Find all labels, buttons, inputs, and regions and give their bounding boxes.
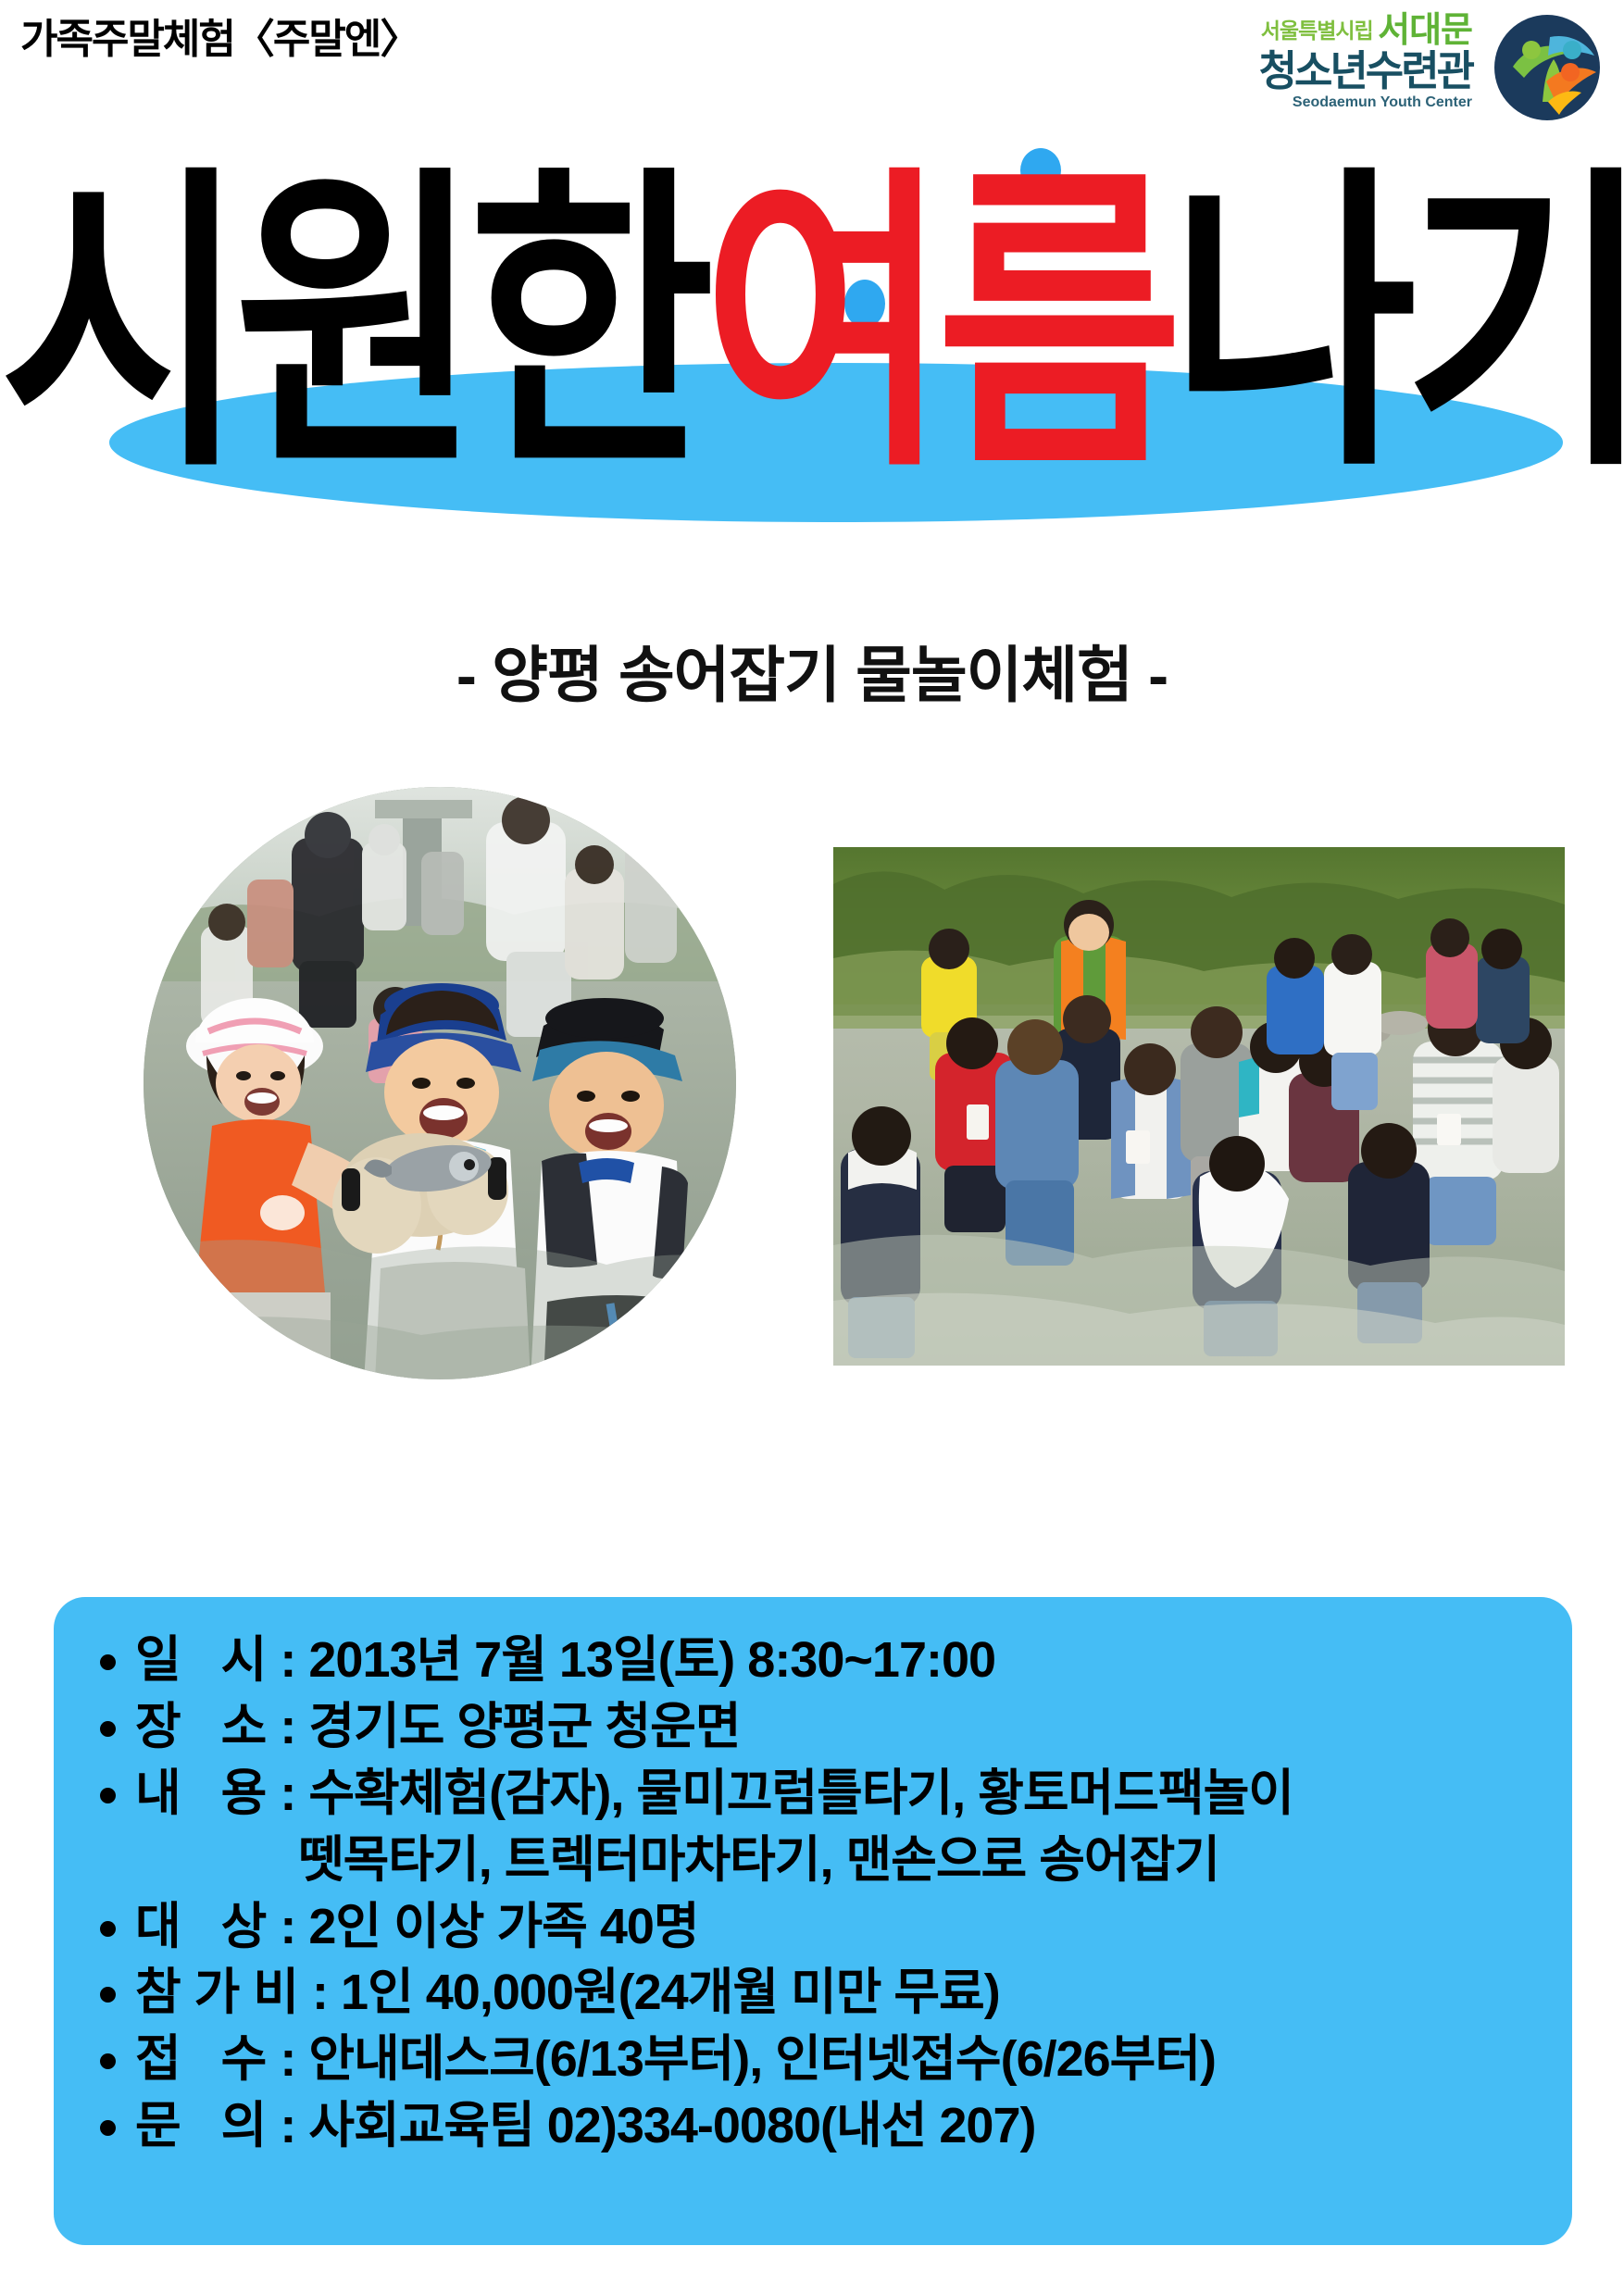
logo-center-name-ko: 청소년수련관 xyxy=(1194,50,1472,93)
logo-prefix: 서울특별시립 xyxy=(1261,19,1373,43)
info-label-content: 내 용 xyxy=(135,1764,280,1825)
info-value-target: 2인 이상 가족 40명 xyxy=(308,1899,698,1954)
info-value-content: 수확체험(감자), 물미끄럼틀타기, 황토머드팩놀이 xyxy=(308,1766,1293,1821)
info-value-date: 2013년 7월 13일(토) 8:30~17:00 xyxy=(308,1632,995,1688)
page-title: 시원한여름나기 xyxy=(0,167,1624,483)
info-label-place: 장 소 xyxy=(135,1697,280,1758)
logo-district: 서대문 xyxy=(1378,11,1472,50)
logo-prefix-line: 서울특별시립 서대문 xyxy=(1194,13,1472,48)
photo-kids-holding-trout xyxy=(144,787,736,1379)
info-label-fee: 참가비 xyxy=(135,1963,312,2024)
seodaemun-youth-center-logo: 서울특별시립 서대문 청소년수련관 Seodaemun Youth Center xyxy=(1194,13,1602,126)
title-part-2-highlight: 여름 xyxy=(702,148,1170,502)
info-item-fee: 참가비: 1인 40,000원(24개월 미만 무료) xyxy=(94,1963,1531,2024)
info-value-contact: 사회교육팀 02)334-0080(내선 207) xyxy=(308,2098,1035,2153)
program-kicker: 가족주말체험〈주말엔〉 xyxy=(20,6,418,65)
info-item-contact: 문 의: 사회교육팀 02)334-0080(내선 207) xyxy=(94,2096,1531,2157)
photo-children-wading-stream xyxy=(833,847,1565,1366)
title-zone: 시원한여름나기 xyxy=(0,111,1624,593)
info-value-fee: 1인 40,000원(24개월 미만 무료) xyxy=(341,1965,1000,2020)
info-item-target: 대 상: 2인 이상 가족 40명 xyxy=(94,1897,1531,1958)
info-label-registration: 접 수 xyxy=(135,2029,280,2090)
logo-emblem-icon xyxy=(1493,13,1602,122)
event-info-list: 일 시: 2013년 7월 13일(토) 8:30~17:00 장 소: 경기도… xyxy=(94,1630,1531,2157)
logo-text-block: 서울특별시립 서대문 청소년수련관 Seodaemun Youth Center xyxy=(1194,13,1472,111)
info-value-content-continued: 뗏목타기, 트렉터마차타기, 맨손으로 송어잡기 xyxy=(94,1830,1531,1891)
info-item-registration: 접 수: 안내데스크(6/13부터), 인터넷접수(6/26부터) xyxy=(94,2029,1531,2090)
info-value-place: 경기도 양평군 청운면 xyxy=(308,1699,740,1754)
info-label-contact: 문 의 xyxy=(135,2096,280,2157)
info-label-target: 대 상 xyxy=(135,1897,280,1958)
info-label-date: 일 시 xyxy=(135,1630,280,1691)
event-info-box: 일 시: 2013년 7월 13일(토) 8:30~17:00 장 소: 경기도… xyxy=(54,1597,1572,2245)
info-value-registration: 안내데스크(6/13부터), 인터넷접수(6/26부터) xyxy=(308,2031,1216,2087)
info-item-place: 장 소: 경기도 양평군 청운면 xyxy=(94,1697,1531,1758)
title-part-3: 나기 xyxy=(1170,148,1624,502)
info-item-content: 내 용: 수확체험(감자), 물미끄럼틀타기, 황토머드팩놀이 xyxy=(94,1764,1531,1825)
title-part-1: 시원한 xyxy=(0,148,702,502)
info-item-date: 일 시: 2013년 7월 13일(토) 8:30~17:00 xyxy=(94,1630,1531,1691)
page-subtitle: - 양평 송어잡기 물놀이체험 - xyxy=(0,626,1624,715)
logo-center-name-en: Seodaemun Youth Center xyxy=(1194,94,1472,111)
